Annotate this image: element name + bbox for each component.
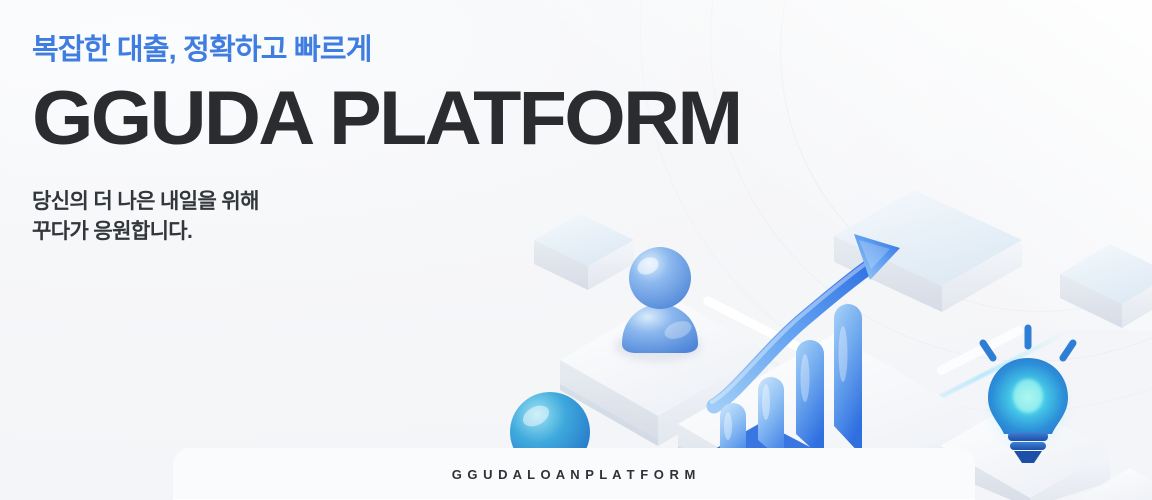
hero-tagline: 복잡한 대출, 정확하고 빠르게 bbox=[32, 32, 713, 68]
subtitle-line2-light: 꾸다가 bbox=[32, 220, 93, 243]
ribbon-label: G G U D A L O A N P L A T F O R M bbox=[452, 467, 697, 482]
hero-copy: 복잡한 대출, 정확하고 빠르게 GGUDA PLATFORM 당신의 더 나은… bbox=[32, 32, 713, 246]
subtitle-line2-bold: 응원합니다. bbox=[93, 220, 192, 243]
subtitle-line1-bold: 더 나은 내일을 위해 bbox=[93, 190, 258, 213]
hero-subtitle: 당신의 더 나은 내일을 위해 꾸다가 응원합니다. bbox=[32, 187, 713, 247]
subtitle-line1-light: 당신의 bbox=[32, 190, 93, 213]
bottom-ribbon-panel: G G U D A L O A N P L A T F O R M bbox=[173, 448, 975, 500]
hero-banner: 복잡한 대출, 정확하고 빠르게 GGUDA PLATFORM 당신의 더 나은… bbox=[0, 0, 1152, 500]
page-title: GGUDA PLATFORM bbox=[32, 82, 741, 156]
